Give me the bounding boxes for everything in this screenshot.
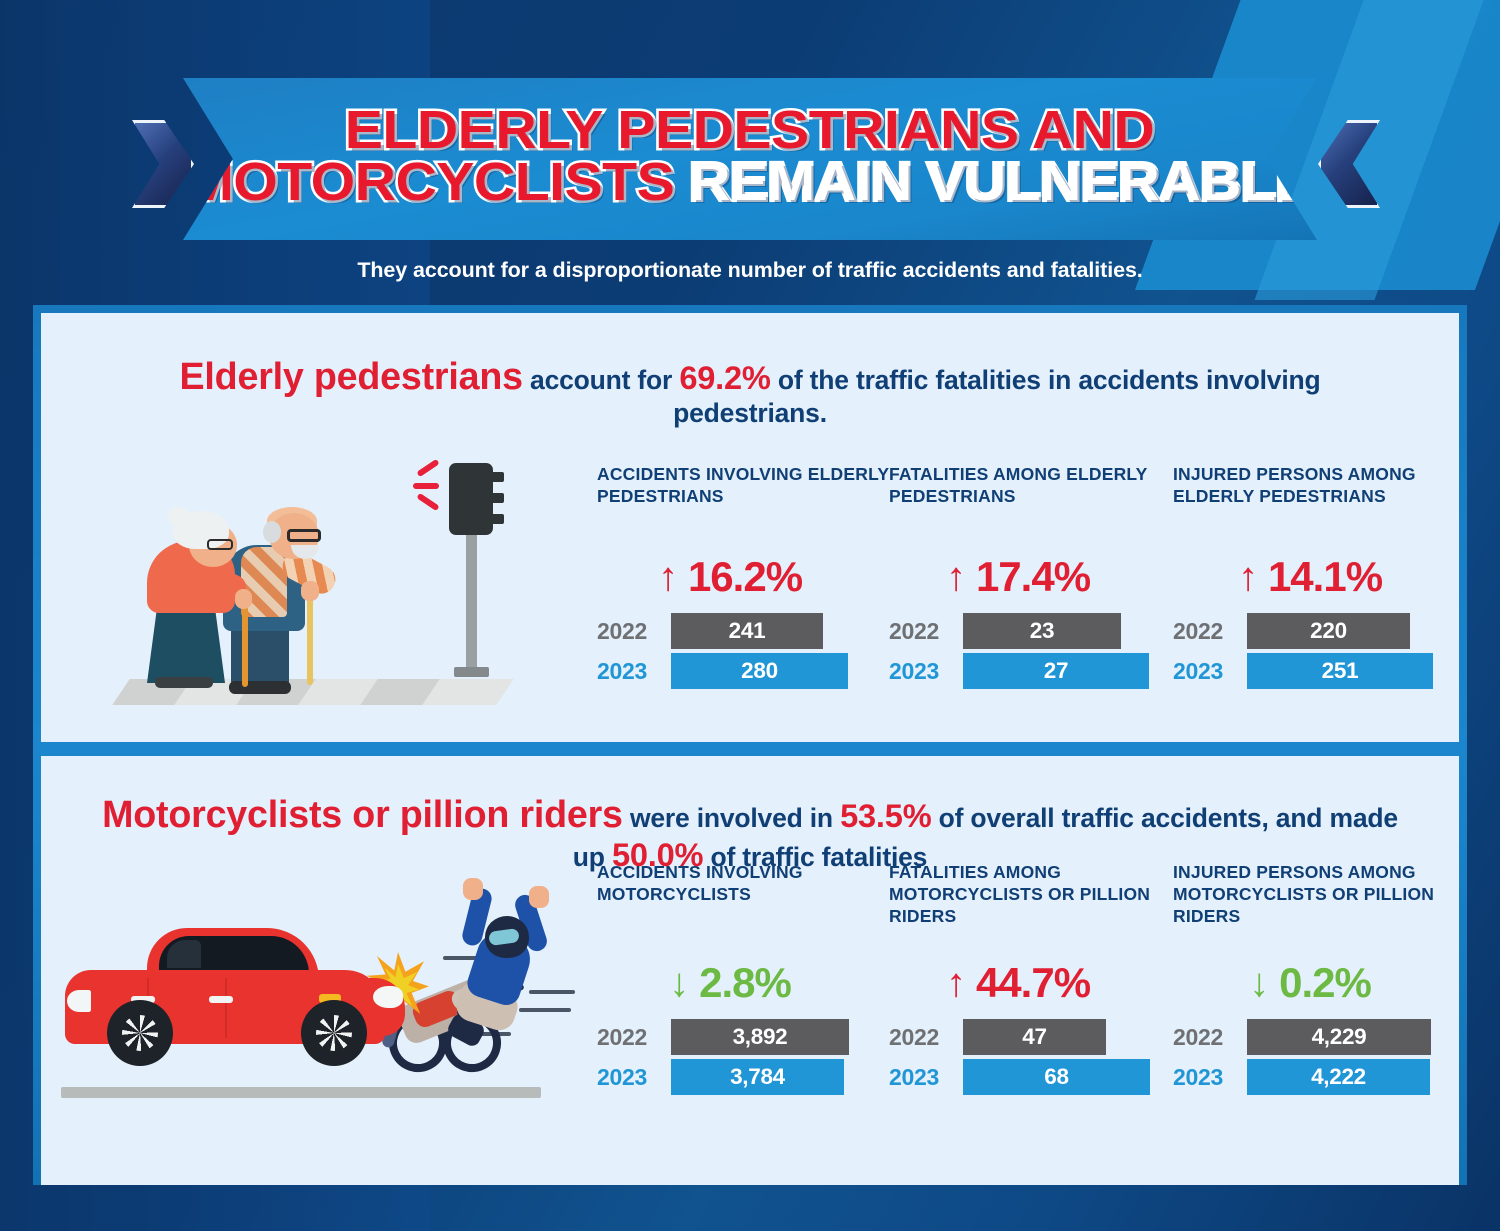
stat-column-title: INJURED PERSONS AMONG MOTORCYCLISTS OR P… <box>1173 861 1459 949</box>
traffic-light-base <box>454 667 489 677</box>
chevron-left-icon <box>1318 120 1380 208</box>
motion-line <box>529 990 575 994</box>
page-title-highlight: MOTORCYCLISTS <box>187 152 675 212</box>
bar-2023: 27 <box>963 653 1149 689</box>
section-1-subject: Elderly pedestrians <box>180 355 523 397</box>
section-motorcyclists: Motorcyclists or pillion riders were inv… <box>41 756 1459 1185</box>
decorative-light-shaft-secondary <box>1254 0 1500 300</box>
traffic-light-beam-icon <box>413 483 439 489</box>
arrow-up-icon: ↑ <box>946 561 966 593</box>
chevron-right-icon <box>132 120 194 208</box>
bar-year-label: 2022 <box>889 1024 963 1051</box>
stat-column-title: ACCIDENTS INVOLVING MOTORCYCLISTS <box>597 861 889 949</box>
section-1-stat: 69.2% <box>679 359 770 396</box>
traffic-light-hood <box>491 472 504 482</box>
arrow-up-icon: ↑ <box>1238 561 1258 593</box>
car-motorcycle-collision-illustration <box>51 886 571 1116</box>
traffic-light-pole <box>466 521 477 673</box>
car-wheel <box>107 1000 173 1066</box>
bar-2022: 241 <box>671 613 823 649</box>
section-2-stat-1: 53.5% <box>840 797 931 834</box>
section-1-text-2: of the traffic fatalities in accidents i… <box>673 365 1320 428</box>
bar-row: 2023 251 <box>1173 653 1459 689</box>
bar-year-label: 2023 <box>1173 1064 1247 1091</box>
bar-row: 2023 4,222 <box>1173 1059 1459 1095</box>
stat-column-title: FATALITIES AMONG ELDERLY PEDESTRIANS <box>889 463 1173 537</box>
stat-column-injured-motorcyclists: INJURED PERSONS AMONG MOTORCYCLISTS OR P… <box>1173 861 1459 1095</box>
bar-year-label: 2023 <box>597 1064 671 1091</box>
trend-percent: 16.2% <box>688 553 802 601</box>
elderly-man-glasses-icon <box>287 529 321 542</box>
trend-indicator: ↓ 0.2% <box>1173 959 1459 1007</box>
bar-year-label: 2022 <box>1173 618 1247 645</box>
bar-year-label: 2022 <box>889 618 963 645</box>
bar-row: 2023 3,784 <box>597 1059 889 1095</box>
stat-column-fatalities-motorcyclists: FATALITIES AMONG MOTORCYCLISTS OR PILLIO… <box>889 861 1173 1095</box>
traffic-light-icon <box>449 463 493 535</box>
traffic-light-hood <box>491 514 504 524</box>
bar-2022: 4,229 <box>1247 1019 1431 1055</box>
bar-year-label: 2023 <box>889 658 963 685</box>
bar-2023: 251 <box>1247 653 1433 689</box>
page-title-rest: REMAIN VULNERABLE <box>675 152 1314 212</box>
infographic-background: ELDERLY PEDESTRIANS AND MOTORCYCLISTSREM… <box>0 0 1500 1231</box>
stat-column-fatalities-elderly: FATALITIES AMONG ELDERLY PEDESTRIANS ↑ 1… <box>889 463 1173 689</box>
stat-column-injured-elderly: INJURED PERSONS AMONG ELDERLY PEDESTRIAN… <box>1173 463 1459 689</box>
bar-row: 2023 68 <box>889 1059 1173 1095</box>
trend-indicator: ↑ 44.7% <box>889 959 1173 1007</box>
trend-indicator: ↑ 17.4% <box>889 553 1173 601</box>
trend-percent: 44.7% <box>976 959 1090 1007</box>
trend-indicator: ↑ 16.2% <box>597 553 889 601</box>
section-1-headline: Elderly pedestrians account for 69.2% of… <box>111 354 1389 430</box>
bar-row: 2023 27 <box>889 653 1173 689</box>
trend-indicator: ↓ 2.8% <box>597 959 889 1007</box>
bar-year-label: 2023 <box>597 658 671 685</box>
arrow-up-icon: ↑ <box>658 561 678 593</box>
car-door-seam <box>225 978 227 1038</box>
stat-column-title: FATALITIES AMONG MOTORCYCLISTS OR PILLIO… <box>889 861 1173 949</box>
bar-row: 2022 220 <box>1173 613 1459 649</box>
bar-year-label: 2023 <box>889 1064 963 1091</box>
walking-cane <box>307 587 313 685</box>
bar-chart: 2022 220 2023 251 <box>1173 613 1459 689</box>
trend-percent: 17.4% <box>976 553 1090 601</box>
car-window-highlight <box>167 940 201 968</box>
bar-year-label: 2022 <box>1173 1024 1247 1051</box>
bar-chart: 2022 3,892 2023 3,784 <box>597 1019 889 1095</box>
elderly-woman-hand <box>235 589 252 609</box>
bar-row: 2022 47 <box>889 1019 1173 1055</box>
stat-column-title: ACCIDENTS INVOLVING ELDERLY PEDESTRIANS <box>597 463 889 537</box>
bar-2022: 23 <box>963 613 1121 649</box>
traffic-light-beam-icon <box>416 459 439 477</box>
elderly-woman-glasses-icon <box>207 539 233 550</box>
motion-line <box>519 1008 571 1012</box>
bar-2022: 220 <box>1247 613 1410 649</box>
trend-indicator: ↑ 14.1% <box>1173 553 1459 601</box>
elderly-woman-skirt <box>147 601 225 683</box>
content-frame: Elderly pedestrians account for 69.2% of… <box>33 305 1467 1185</box>
bar-row: 2022 3,892 <box>597 1019 889 1055</box>
arrow-down-icon: ↓ <box>1249 967 1269 999</box>
bar-chart: 2022 47 2023 68 <box>889 1019 1173 1095</box>
car-wheel <box>301 1000 367 1066</box>
trend-percent: 0.2% <box>1279 959 1371 1007</box>
section-2-subject: Motorcyclists or pillion riders <box>102 793 623 835</box>
section-1-text-1: account for <box>530 365 672 395</box>
page-title-line-1: ELDERLY PEDESTRIANS AND <box>187 105 1314 157</box>
page-title-line-2: MOTORCYCLISTSREMAIN VULNERABLE <box>187 157 1314 209</box>
stat-column-accidents-motorcyclists: ACCIDENTS INVOLVING MOTORCYCLISTS ↓ 2.8%… <box>597 861 889 1095</box>
title-banner: ELDERLY PEDESTRIANS AND MOTORCYCLISTSREM… <box>183 78 1317 240</box>
elderly-man-hand <box>301 581 319 601</box>
bar-chart: 2022 23 2023 27 <box>889 613 1173 689</box>
bar-row: 2022 241 <box>597 613 889 649</box>
panel-divider <box>41 742 1459 756</box>
bar-row: 2023 280 <box>597 653 889 689</box>
trend-percent: 14.1% <box>1268 553 1382 601</box>
section-2-stat-columns: ACCIDENTS INVOLVING MOTORCYCLISTS ↓ 2.8%… <box>597 861 1459 1095</box>
elderly-pedestrians-crosswalk-illustration <box>111 441 551 711</box>
bar-year-label: 2022 <box>597 618 671 645</box>
bar-2023: 4,222 <box>1247 1059 1430 1095</box>
rider-hand <box>463 878 483 900</box>
arrow-up-icon: ↑ <box>946 967 966 999</box>
traffic-light-beam-icon <box>416 493 439 511</box>
bar-chart: 2022 4,229 2023 4,222 <box>1173 1019 1459 1095</box>
car-taillight-icon <box>67 990 91 1012</box>
bar-2023: 280 <box>671 653 848 689</box>
elderly-man-hair <box>263 521 281 543</box>
section-2-text-1: were involved in <box>630 803 833 833</box>
bar-2023: 68 <box>963 1059 1150 1095</box>
stat-column-accidents-elderly: ACCIDENTS INVOLVING ELDERLY PEDESTRIANS … <box>597 463 889 689</box>
bar-chart: 2022 241 2023 280 <box>597 613 889 689</box>
bar-2023: 3,784 <box>671 1059 844 1095</box>
rider-hand <box>529 886 549 908</box>
bar-row: 2022 23 <box>889 613 1173 649</box>
elderly-woman-shoe <box>155 677 213 688</box>
bar-year-label: 2022 <box>597 1024 671 1051</box>
traffic-light-hood <box>491 493 504 503</box>
car-headlight-icon <box>373 986 403 1008</box>
bar-2022: 3,892 <box>671 1019 849 1055</box>
car-door-handle <box>209 996 233 1003</box>
section-elderly-pedestrians: Elderly pedestrians account for 69.2% of… <box>41 313 1459 742</box>
trend-percent: 2.8% <box>699 959 791 1007</box>
section-1-stat-columns: ACCIDENTS INVOLVING ELDERLY PEDESTRIANS … <box>597 463 1459 689</box>
arrow-down-icon: ↓ <box>669 967 689 999</box>
bar-2022: 47 <box>963 1019 1106 1055</box>
stat-column-title: INJURED PERSONS AMONG ELDERLY PEDESTRIAN… <box>1173 463 1459 537</box>
bar-year-label: 2023 <box>1173 658 1247 685</box>
road-surface <box>61 1087 541 1098</box>
elderly-man-shoe <box>229 681 291 694</box>
bar-row: 2022 4,229 <box>1173 1019 1459 1055</box>
page-subtitle: They account for a disproportionate numb… <box>0 258 1500 283</box>
